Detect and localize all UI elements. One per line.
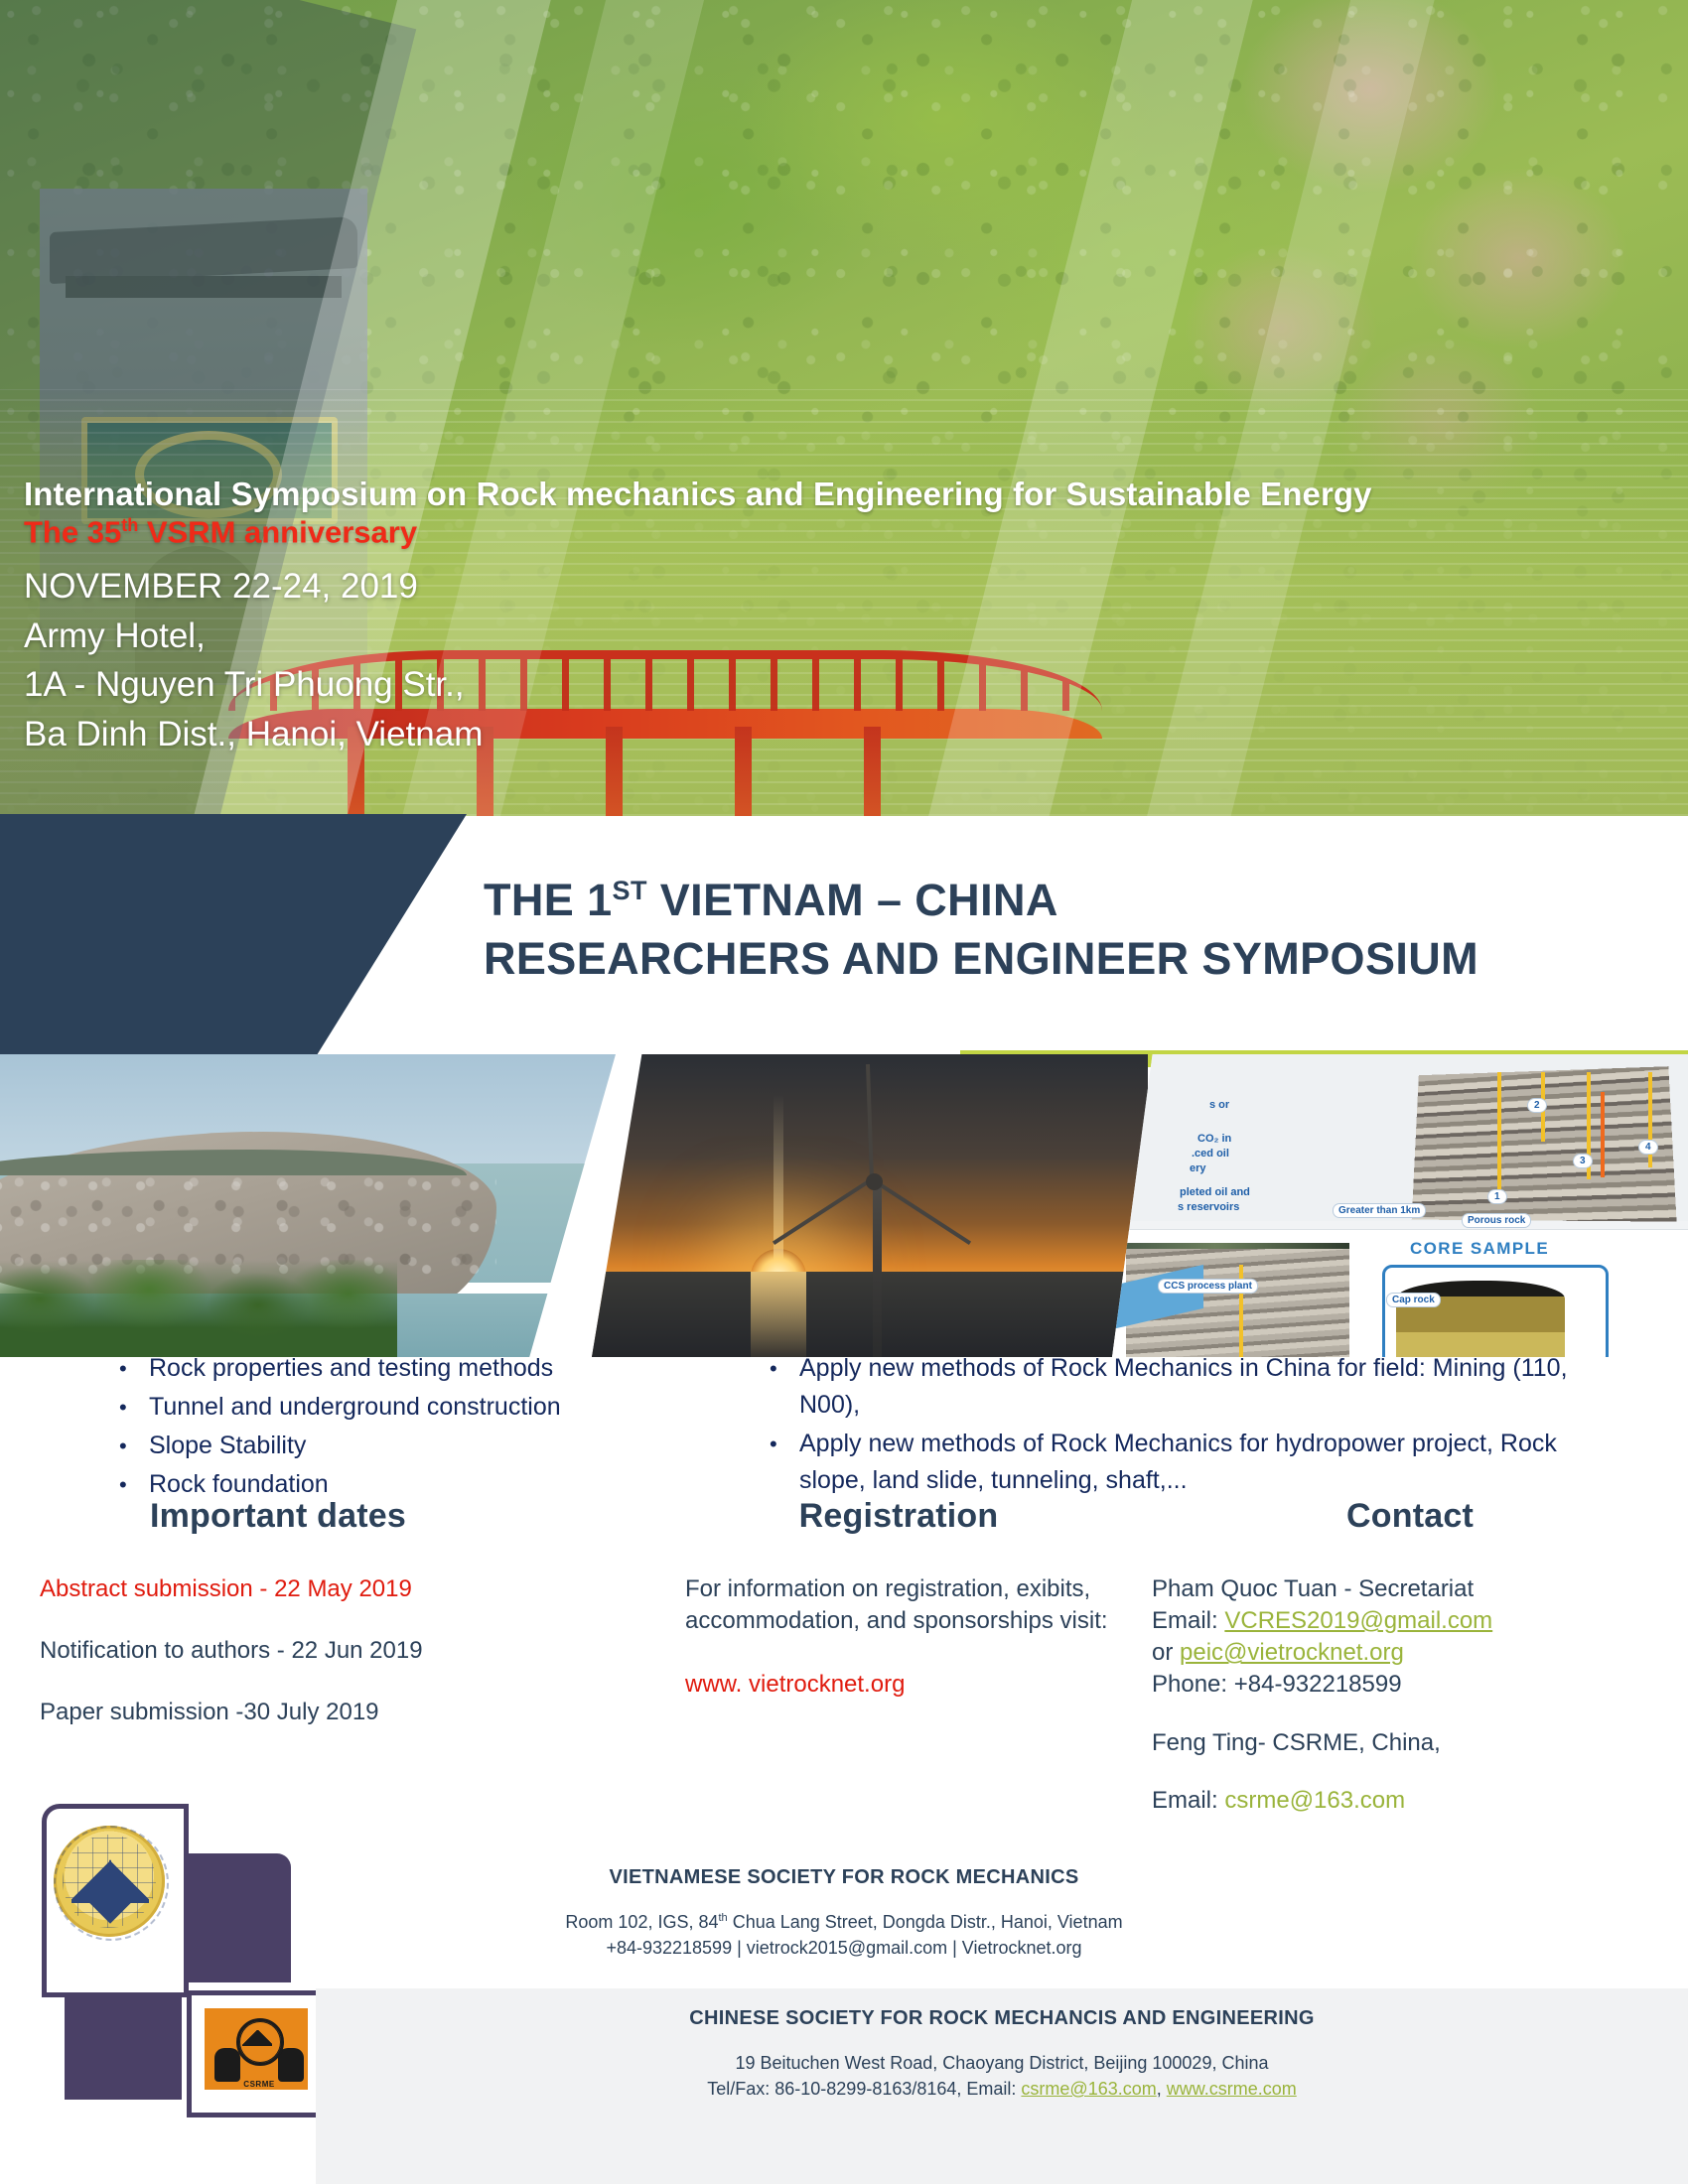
- list-item: • Rock properties and testing methods: [119, 1350, 735, 1387]
- hero-banner: International Symposium on Rock mechanic…: [0, 0, 1688, 816]
- ocean: [592, 1272, 1148, 1357]
- contact-person-2: Feng Ting- CSRME, China,: [1152, 1727, 1668, 1759]
- topic-label: Rock properties and testing methods: [149, 1350, 553, 1387]
- vsrm-contact: +84-932218599 | vietrock2015@gmail.com |…: [0, 1935, 1688, 1961]
- important-dates-heading: Important dates: [40, 1497, 516, 1536]
- main-title-line1: THE 1ST VIETNAM – CHINA: [484, 872, 1655, 930]
- vsrm-society-name: VIETNAMESE SOCIETY FOR ROCK MECHANICS: [0, 1866, 1688, 1889]
- email-label-2: Email:: [1152, 1787, 1224, 1814]
- main-title-line1-pre: THE 1: [484, 875, 613, 925]
- diagram-text-3: .ced oil: [1192, 1147, 1229, 1162]
- csrme-lion-left-icon: [214, 2048, 240, 2082]
- navy-wedge-shape: [0, 814, 467, 1054]
- csrme-contact-sep: ,: [1157, 2079, 1167, 2099]
- registration-column: Registration For information on registra…: [685, 1497, 1112, 1699]
- diagram-text-1: s or: [1209, 1098, 1229, 1114]
- contact-email-alt[interactable]: peic@vietrocknet.org: [1180, 1639, 1404, 1666]
- contact-email-1[interactable]: VCRES2019@gmail.com: [1224, 1607, 1492, 1634]
- contact-email-row-2: or peic@vietrocknet.org: [1152, 1637, 1668, 1669]
- topic-label: Apply new methods of Rock Mechanics in C…: [799, 1350, 1594, 1424]
- registration-paragraph: For information on registration, exibits…: [685, 1573, 1112, 1637]
- list-item: • Tunnel and underground construction: [119, 1389, 735, 1426]
- vsrm-address-post: Chua Lang Street, Dongda Distr., Hanoi, …: [728, 1912, 1123, 1932]
- contact-email-row-1: Email: VCRES2019@gmail.com: [1152, 1605, 1668, 1637]
- logo-decor-block-2: [65, 1992, 182, 2100]
- contact-person-1: Pham Quoc Tuan - Secretariat: [1152, 1573, 1668, 1605]
- bullet-icon: •: [770, 1426, 799, 1462]
- topics-left-column: • Rock properties and testing methods • …: [119, 1350, 735, 1505]
- list-item: • Slope Stability: [119, 1428, 735, 1464]
- email-label: Email:: [1152, 1607, 1224, 1634]
- injection-well: [1497, 1072, 1501, 1203]
- anniversary-ordinal: th: [121, 515, 138, 535]
- image-panel-ccs-diagram: 1 2 3 4 s or CO₂ in .ced oil ery pleted …: [1112, 1054, 1688, 1357]
- symposium-title: International Symposium on Rock mechanic…: [24, 477, 1632, 513]
- venue-name: Army Hotel,: [24, 614, 1632, 659]
- diagram-text-4: ery: [1190, 1161, 1206, 1177]
- csrme-mountain-icon: [242, 2030, 272, 2046]
- anniversary-suffix: VSRM anniversary: [138, 514, 417, 549]
- contact-email-2[interactable]: csrme@163.com: [1224, 1787, 1405, 1814]
- turbine-hub: [866, 1173, 883, 1190]
- csrme-logo-text: CSRME: [224, 2080, 294, 2089]
- csrme-lion-right-icon: [278, 2048, 304, 2082]
- image-panel-dam: [0, 1054, 616, 1357]
- contact-heading: Contact: [1152, 1497, 1668, 1536]
- contact-column: Contact Pham Quoc Tuan - Secretariat Ema…: [1152, 1497, 1668, 1817]
- contact-email-row-3: Email: csrme@163.com: [1152, 1785, 1668, 1817]
- diagram-text-5: pleted oil and: [1180, 1185, 1250, 1201]
- csrme-footer: CHINESE SOCIETY FOR ROCK MECHANCIS AND E…: [316, 2007, 1688, 2102]
- image-panel-wind-turbine: [592, 1054, 1148, 1357]
- registration-heading: Registration: [685, 1497, 1112, 1536]
- bullet-icon: •: [770, 1350, 799, 1387]
- venue-address-line1: 1A - Nguyen Tri Phuong Str.,: [24, 662, 1632, 708]
- turbine-mast: [873, 1181, 882, 1357]
- topic-label: Apply new methods of Rock Mechanics for …: [799, 1426, 1594, 1499]
- vsrm-address-pre: Room 102, IGS, 84: [565, 1912, 718, 1932]
- date-abstract-submission: Abstract submission - 22 May 2019: [40, 1573, 516, 1605]
- vsrm-address: Room 102, IGS, 84th Chua Lang Street, Do…: [0, 1909, 1688, 1935]
- conference-poster: International Symposium on Rock mechanic…: [0, 0, 1688, 2184]
- main-title-ordinal: ST: [613, 876, 647, 905]
- topic-label: Slope Stability: [149, 1428, 306, 1464]
- topic-label: Tunnel and underground construction: [149, 1389, 561, 1426]
- list-item: • Apply new methods of Rock Mechanics fo…: [770, 1426, 1594, 1499]
- core-sample-title: CORE SAMPLE: [1410, 1239, 1549, 1259]
- list-item: • Apply new methods of Rock Mechanics in…: [770, 1350, 1594, 1424]
- bullet-icon: •: [119, 1389, 149, 1426]
- bullet-icon: •: [119, 1350, 149, 1387]
- sun-glint-on-water: [751, 1272, 806, 1357]
- diagram-marker-3: 3: [1573, 1154, 1593, 1168]
- enhanced-oil-recovery-well: [1601, 1092, 1605, 1177]
- main-title-block: THE 1ST VIETNAM – CHINA RESEARCHERS AND …: [484, 872, 1655, 988]
- csrme-contact: Tel/Fax: 86-10-8299-8163/8164, Email: cs…: [316, 2076, 1688, 2102]
- venue-address-line2: Ba Dinh Dist., Hanoi, Vietnam: [24, 712, 1632, 757]
- email-or-label: or: [1152, 1639, 1180, 1666]
- registration-website-link[interactable]: www. vietrocknet.org: [685, 1671, 1112, 1699]
- important-dates-column: Important dates Abstract submission - 22…: [40, 1497, 516, 1758]
- topics-section: • Rock properties and testing methods • …: [0, 1350, 1688, 1499]
- main-title-line2: RESEARCHERS AND ENGINEER SYMPOSIUM: [484, 930, 1655, 989]
- csrme-society-name: CHINESE SOCIETY FOR ROCK MECHANCIS AND E…: [316, 2007, 1688, 2030]
- bullet-icon: •: [119, 1428, 149, 1464]
- vsrm-address-ordinal: th: [719, 1912, 728, 1924]
- topics-right-column: • Apply new methods of Rock Mechanics in…: [770, 1350, 1594, 1501]
- csrme-website[interactable]: www.csrme.com: [1167, 2079, 1297, 2099]
- cap-rock-label: Cap rock: [1386, 1293, 1441, 1307]
- contact-phone: Phone: +84-932218599: [1152, 1669, 1668, 1701]
- csrme-address: 19 Beituchen West Road, Chaoyang Distric…: [316, 2050, 1688, 2076]
- diagram-text-6: s reservoirs: [1178, 1200, 1239, 1216]
- anniversary-line: The 35th VSRM anniversary: [24, 515, 1632, 550]
- anniversary-prefix: The 35: [24, 514, 121, 549]
- csrme-email[interactable]: csrme@163.com: [1021, 2079, 1156, 2099]
- date-paper-submission: Paper submission -30 July 2019: [40, 1697, 516, 1728]
- image-strip: 1 2 3 4 s or CO₂ in .ced oil ery pleted …: [0, 1054, 1688, 1357]
- diagram-marker-2: 2: [1527, 1098, 1547, 1113]
- diagram-text-2: CO₂ in: [1197, 1132, 1231, 1148]
- date-notification: Notification to authors - 22 Jun 2019: [40, 1635, 516, 1667]
- vsrm-footer: VIETNAMESE SOCIETY FOR ROCK MECHANICS Ro…: [0, 1866, 1688, 1961]
- porous-rock-label: Porous rock: [1462, 1213, 1531, 1228]
- diagram-marker-1: 1: [1487, 1189, 1507, 1204]
- depth-label: Greater than 1km: [1333, 1203, 1426, 1218]
- hero-text-block: International Symposium on Rock mechanic…: [24, 477, 1632, 756]
- dam-foreground-trees: [0, 1260, 397, 1357]
- main-title-line1-post: VIETNAM – CHINA: [647, 875, 1058, 925]
- event-date: NOVEMBER 22-24, 2019: [24, 564, 1632, 610]
- ccs-plant-label: CCS process plant: [1158, 1279, 1258, 1294]
- csrme-contact-pre: Tel/Fax: 86-10-8299-8163/8164, Email:: [707, 2079, 1021, 2099]
- diagram-marker-4: 4: [1638, 1140, 1658, 1155]
